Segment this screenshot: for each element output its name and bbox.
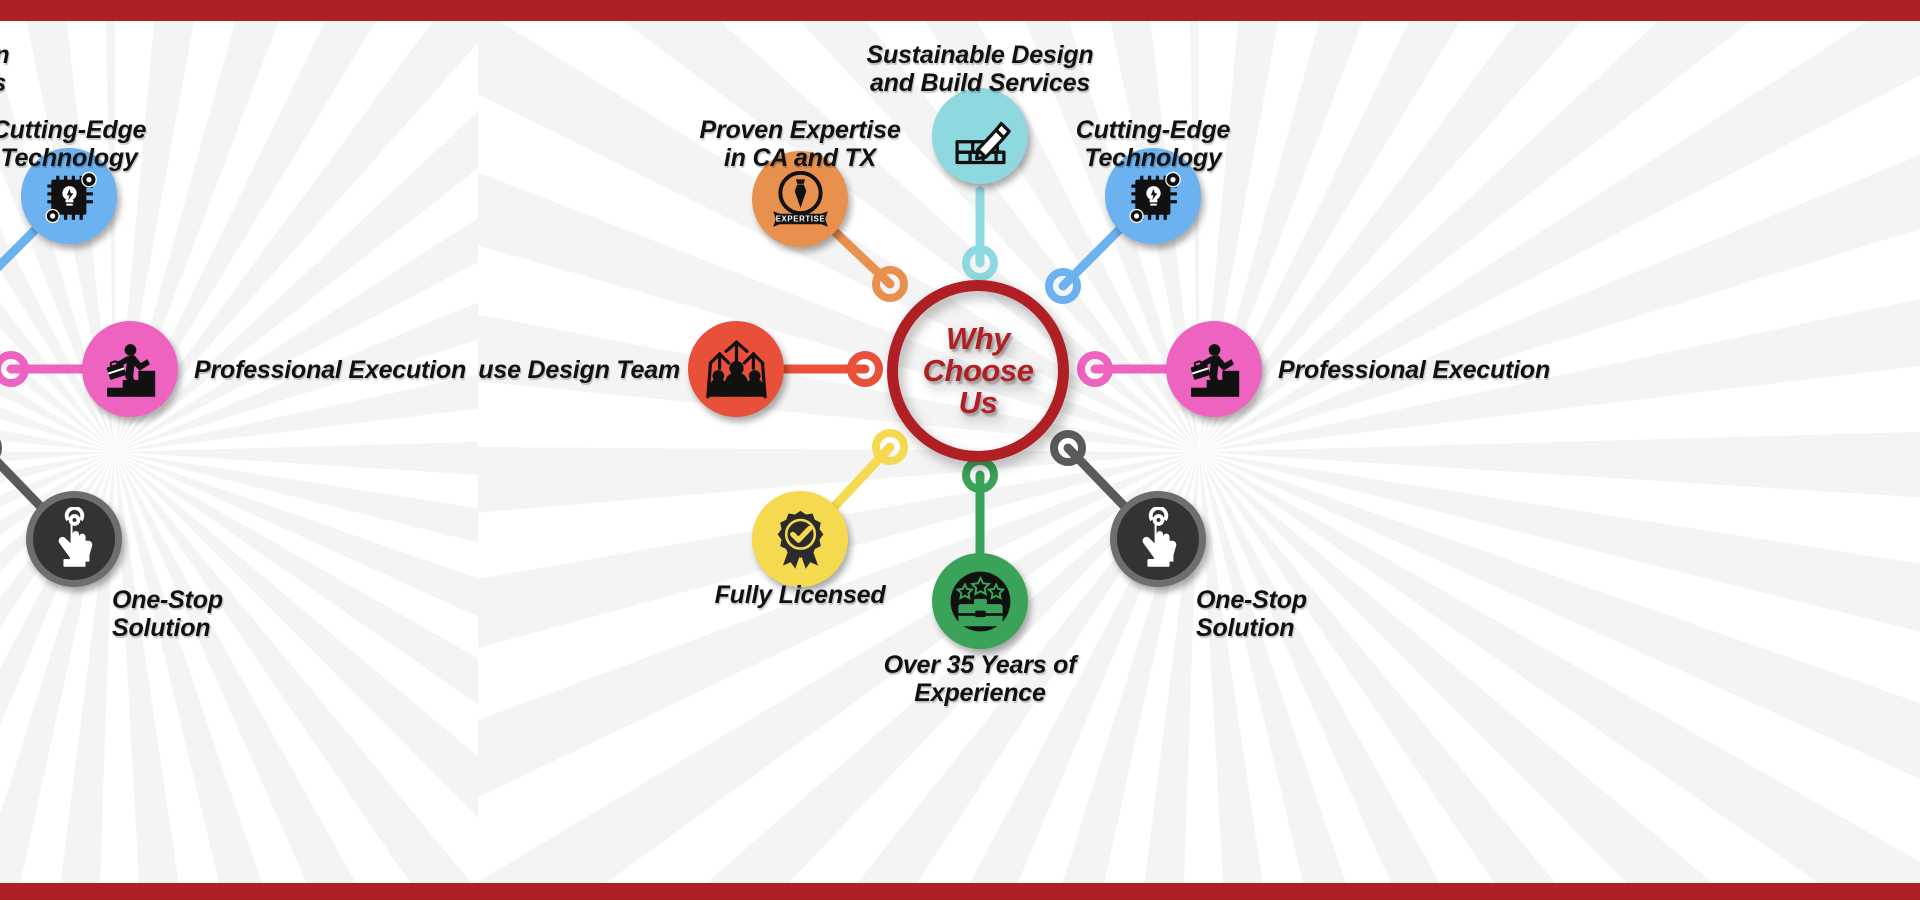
- bottom-brand-bar: [0, 883, 1920, 900]
- node-label-proven-expertise: Proven Expertise in CA and TX: [620, 116, 980, 172]
- node-label-sustainable-design: Sustainable Design and Build Services: [0, 41, 76, 97]
- node-label-professional-execution: Professional Execution: [194, 356, 478, 384]
- hand-tap-icon: [42, 507, 107, 572]
- connector-cutting-edge-technology: [0, 226, 39, 286]
- node-professional-execution[interactable]: [1166, 321, 1262, 417]
- node-professional-execution[interactable]: [82, 321, 178, 417]
- connector-one-stop-solution: [0, 448, 42, 508]
- node-label-in-house-design-team: In-House Design Team: [478, 356, 680, 384]
- diagram-ghost: Why Choose Us Sustainable Design and Bui…: [0, 21, 478, 883]
- chip-lightbulb-gears-icon: [1121, 164, 1186, 229]
- previous-slide-inner: Why Choose Us Sustainable Design and Bui…: [0, 21, 478, 883]
- slide-canvas: Why Choose Us Sustainable Design and Bui…: [0, 0, 1920, 900]
- node-label-over-35-years-experience: Over 35 Years of Experience: [800, 651, 1160, 707]
- node-label-one-stop-solution: One-Stop Solution: [1196, 586, 1436, 642]
- chip-lightbulb-gears-icon: [37, 164, 102, 229]
- svg-text:EXPERTISE: EXPERTISE: [775, 214, 825, 223]
- businessperson-stairs-icon: [98, 337, 163, 402]
- node-label-cutting-edge-technology: Cutting-Edge Technology: [988, 116, 1318, 172]
- node-fully-licensed[interactable]: [752, 491, 848, 587]
- current-slide-inner: Why Choose Us Sustainable Design and Bui…: [478, 21, 1920, 883]
- tie-expertise-banner-icon: EXPERTISE: [768, 167, 833, 232]
- node-one-stop-solution[interactable]: [1110, 491, 1206, 587]
- node-in-house-design-team[interactable]: [688, 321, 784, 417]
- node-label-sustainable-design: Sustainable Design and Build Services: [800, 41, 1160, 97]
- previous-slide-panel: Why Choose Us Sustainable Design and Bui…: [0, 21, 478, 883]
- team-people-icon: [704, 337, 769, 402]
- top-brand-bar: [0, 0, 1920, 21]
- node-label-professional-execution: Professional Execution: [1278, 356, 1678, 384]
- businessperson-stairs-icon: [1182, 337, 1247, 402]
- node-one-stop-solution[interactable]: [26, 491, 122, 587]
- node-label-cutting-edge-technology: Cutting-Edge Technology: [0, 116, 234, 172]
- node-label-fully-licensed: Fully Licensed: [630, 581, 970, 609]
- award-badge-check-icon: [768, 507, 833, 572]
- center-hub[interactable]: Why Choose Us: [887, 280, 1069, 462]
- node-label-one-stop-solution: One-Stop Solution: [112, 586, 352, 642]
- why-choose-us-diagram: Why Choose Us Sustainable Design and Bui…: [478, 21, 1920, 883]
- current-slide-panel: Why Choose Us Sustainable Design and Bui…: [478, 21, 1920, 883]
- hand-tap-icon: [1126, 507, 1191, 572]
- center-hub-title: Why Choose Us: [923, 323, 1034, 419]
- node-label-over-35-years-experience: Over 35 Years of Experience: [0, 651, 76, 707]
